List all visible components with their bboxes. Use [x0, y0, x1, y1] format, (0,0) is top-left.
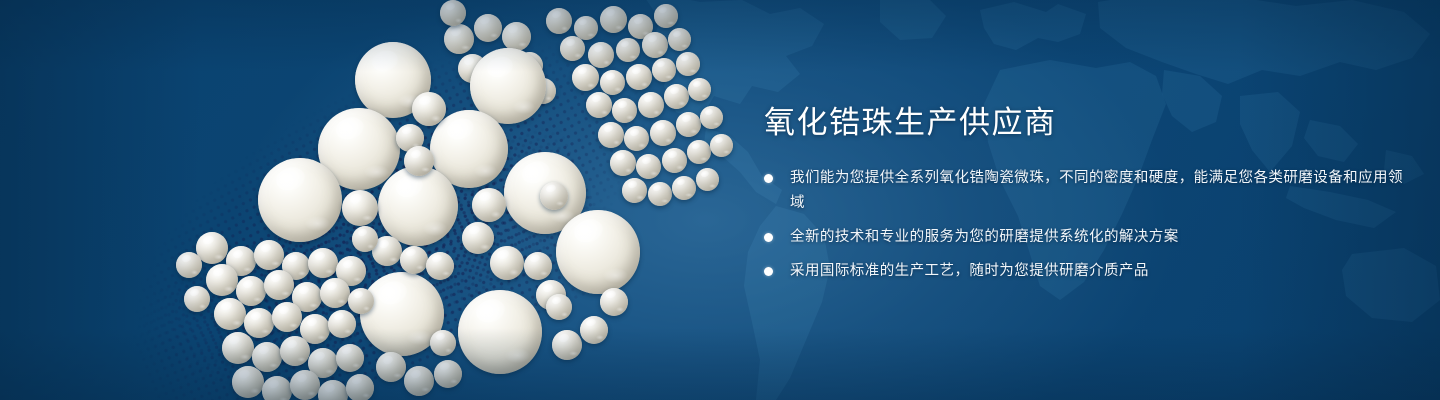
list-item-text: 全新的技术和专业的服务为您的研磨提供系统化的解决方案: [790, 225, 1404, 250]
list-item: 我们能为您提供全系列氧化锆陶瓷微珠，不同的密度和硬度，能满足您各类研磨设备和应用…: [764, 166, 1404, 216]
bullet-dot-icon: [764, 174, 773, 183]
list-item-text: 我们能为您提供全系列氧化锆陶瓷微珠，不同的密度和硬度，能满足您各类研磨设备和应用…: [790, 166, 1404, 216]
hero-banner: 氧化锆珠生产供应商 我们能为您提供全系列氧化锆陶瓷微珠，不同的密度和硬度，能满足…: [0, 0, 1440, 400]
banner-content: 氧化锆珠生产供应商 我们能为您提供全系列氧化锆陶瓷微珠，不同的密度和硬度，能满足…: [764, 106, 1404, 284]
bullet-dot-icon: [764, 233, 773, 242]
list-item: 采用国际标准的生产工艺，随时为您提供研磨介质产品: [764, 259, 1404, 284]
feature-list: 我们能为您提供全系列氧化锆陶瓷微珠，不同的密度和硬度，能满足您各类研磨设备和应用…: [764, 166, 1404, 284]
page-title: 氧化锆珠生产供应商: [764, 106, 1404, 140]
list-item-text: 采用国际标准的生产工艺，随时为您提供研磨介质产品: [790, 259, 1404, 284]
bullet-dot-icon: [764, 267, 773, 276]
list-item: 全新的技术和专业的服务为您的研磨提供系统化的解决方案: [764, 225, 1404, 250]
